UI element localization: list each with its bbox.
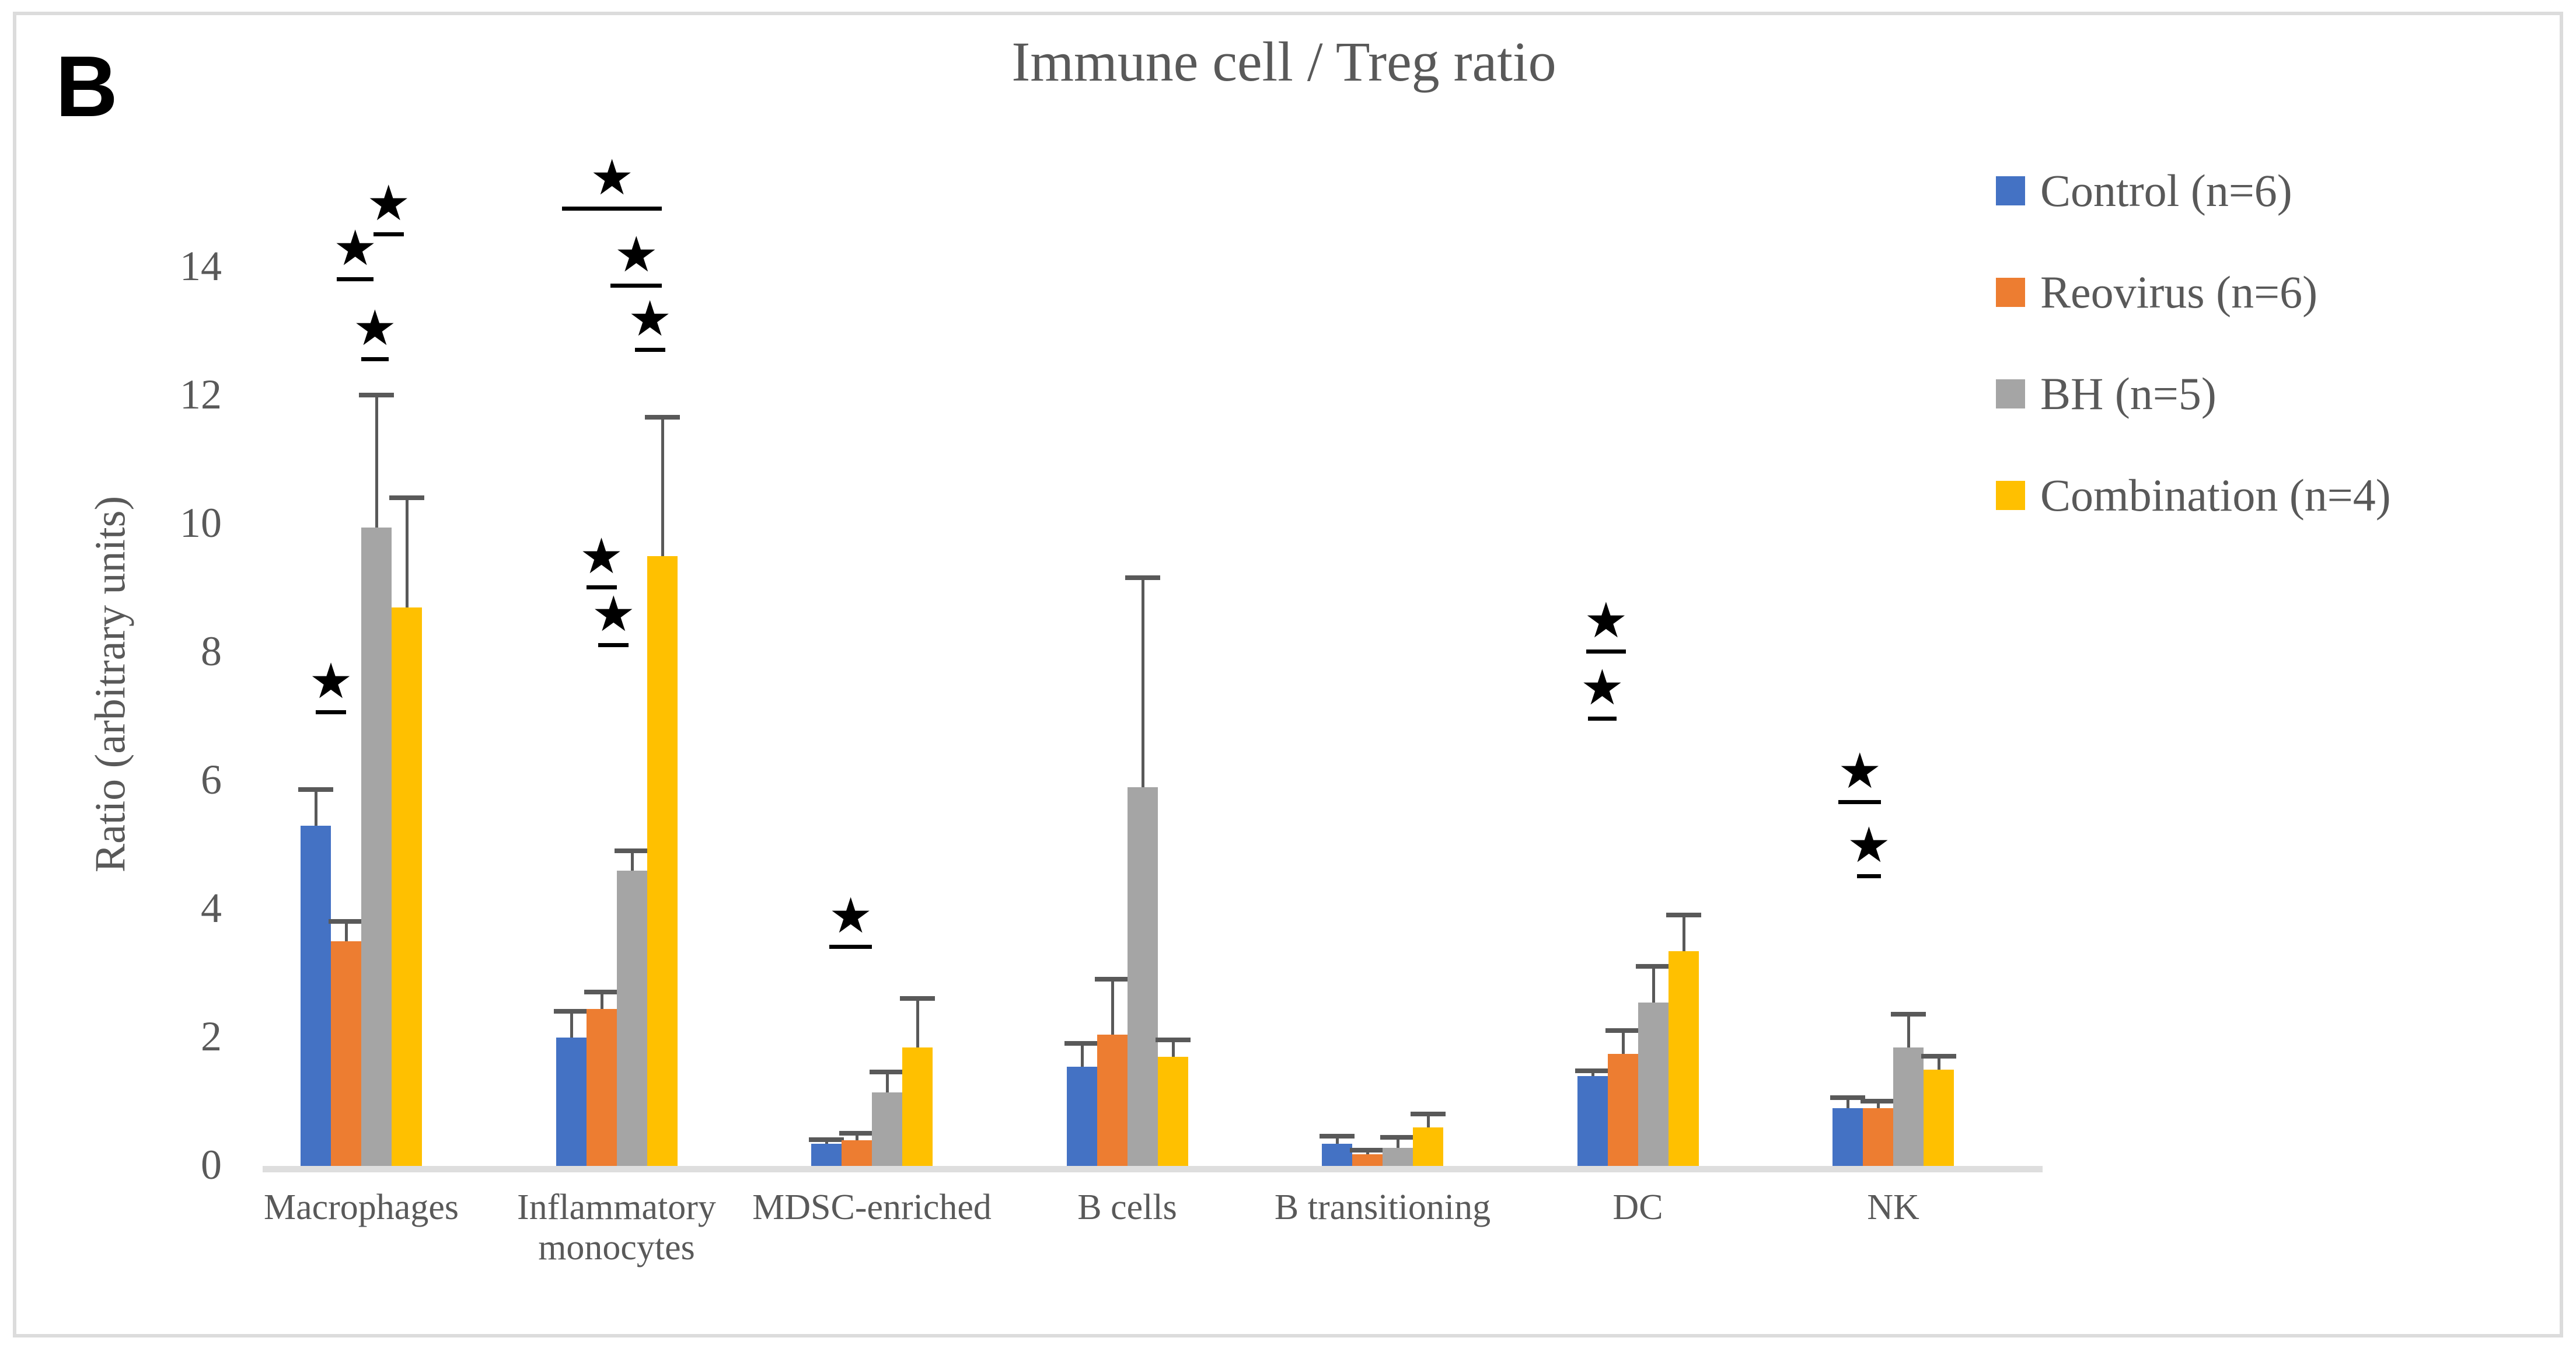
bar[interactable] (1097, 152, 1128, 1166)
error-bar (1652, 964, 1655, 1003)
chart-title: Immune cell / Treg ratio (875, 29, 1692, 94)
bar-fill (1067, 1067, 1097, 1167)
bar[interactable] (1383, 152, 1413, 1166)
bar-group (1322, 152, 1443, 1166)
bar-fill (301, 826, 331, 1166)
error-bar (1683, 913, 1685, 951)
error-bar (1427, 1112, 1430, 1128)
bar-fill (1352, 1154, 1383, 1166)
significance-bracket-line (1857, 874, 1882, 878)
bar-fill (556, 1038, 587, 1166)
significance-star-icon: ★ (822, 891, 880, 940)
significance-star-icon: ★ (583, 153, 641, 202)
bar-fill (1863, 1108, 1893, 1166)
error-bar (1907, 1012, 1910, 1047)
error-bar (406, 495, 409, 608)
bar-fill (811, 1144, 842, 1167)
legend-item[interactable]: BH (n=5) (1996, 372, 2391, 415)
bar-fill (392, 607, 422, 1166)
error-bar (1366, 1148, 1369, 1154)
significance-bracket-line (829, 945, 872, 949)
legend-color-swatch (1996, 379, 2025, 408)
significance-bracket-line (1838, 800, 1881, 804)
bar[interactable] (872, 152, 902, 1166)
plot-area: ★★★★★★★★★★★★★★ (268, 152, 2019, 1166)
bar[interactable] (1863, 152, 1893, 1166)
bar[interactable] (587, 152, 617, 1166)
significance-bracket-line (337, 277, 373, 281)
bar-fill (842, 1140, 872, 1166)
significance-star-icon: ★ (1577, 596, 1635, 645)
significance-bracket-line (635, 348, 665, 352)
y-tick-label: 8 (134, 630, 222, 672)
error-bar (1397, 1135, 1399, 1148)
significance-star-icon: ★ (1573, 663, 1631, 712)
significance-star-icon: ★ (1839, 820, 1898, 869)
significance-bracket-line (361, 357, 389, 361)
bar[interactable] (1128, 152, 1158, 1166)
bar[interactable] (1638, 152, 1669, 1166)
bar[interactable] (1352, 152, 1383, 1166)
figure-panel: B Immune cell / Treg ratio Ratio (arbitr… (0, 0, 2576, 1348)
legend-label: Reovirus (n=6) (2040, 270, 2317, 315)
legend-color-swatch (1996, 481, 2025, 510)
legend-label: Control (n=6) (2040, 168, 2292, 214)
bar[interactable] (1832, 152, 1863, 1166)
significance-bracket-line (1588, 717, 1617, 721)
bar[interactable] (902, 152, 933, 1166)
legend-item[interactable]: Control (n=6) (1996, 169, 2391, 212)
bar-fill (1322, 1144, 1352, 1167)
bar-fill (647, 556, 678, 1166)
error-bar (1172, 1038, 1175, 1057)
significance-star-icon: ★ (607, 230, 665, 279)
bar[interactable] (1669, 152, 1699, 1166)
legend-item[interactable]: Combination (n=4) (1996, 474, 2391, 517)
significance-star-icon: ★ (621, 294, 679, 343)
legend-color-swatch (1996, 176, 2025, 205)
bar[interactable] (556, 152, 587, 1166)
bar-fill (587, 1009, 617, 1167)
bar-fill (1893, 1047, 1924, 1167)
bar-fill (902, 1047, 933, 1167)
bar-fill (872, 1092, 902, 1167)
error-bar (825, 1137, 828, 1144)
significance-bracket-line (374, 232, 404, 236)
y-tick-label: 2 (134, 1015, 222, 1057)
significance-bracket-line (562, 207, 662, 211)
y-tick-label: 0 (134, 1144, 222, 1186)
legend: Control (n=6)Reovirus (n=6)BH (n=5)Combi… (1996, 169, 2391, 575)
significance-star-icon: ★ (573, 532, 631, 581)
legend-label: Combination (n=4) (2040, 473, 2391, 518)
error-bar (601, 990, 603, 1009)
y-tick-label: 12 (134, 373, 222, 415)
bar-fill (1608, 1054, 1638, 1167)
bar[interactable] (811, 152, 842, 1166)
legend-item[interactable]: Reovirus (n=6) (1996, 271, 2391, 314)
error-bar (661, 415, 664, 556)
y-tick-label: 6 (134, 759, 222, 801)
y-tick-label: 14 (134, 245, 222, 287)
significance-bracket-line (316, 710, 346, 714)
bar-fill (331, 941, 361, 1166)
bar-fill (1097, 1035, 1128, 1167)
error-bar (631, 848, 634, 871)
bar[interactable] (1158, 152, 1188, 1166)
error-bar (1142, 575, 1144, 787)
error-bar (1877, 1099, 1880, 1109)
error-bar (856, 1131, 858, 1141)
error-bar (1081, 1041, 1084, 1067)
panel-letter: B (55, 44, 118, 130)
significance-bracket-line (610, 284, 662, 288)
error-bar (1336, 1134, 1339, 1144)
bar[interactable] (1893, 152, 1924, 1166)
y-tick-label: 10 (134, 502, 222, 544)
bar-fill (1158, 1057, 1188, 1166)
y-axis-title: Ratio (arbitrary units) (86, 422, 136, 947)
significance-bracket-line (1586, 649, 1626, 654)
error-bar (1622, 1028, 1625, 1054)
bar[interactable] (842, 152, 872, 1166)
error-bar (375, 393, 378, 528)
y-tick-label: 4 (134, 887, 222, 929)
bar[interactable] (1924, 152, 1954, 1166)
bar-fill (617, 871, 647, 1166)
bar-fill (1832, 1108, 1863, 1166)
error-bar (1591, 1068, 1594, 1076)
significance-bracket-line (598, 643, 629, 647)
error-bar (315, 787, 317, 826)
bar-fill (1413, 1127, 1443, 1166)
significance-star-icon: ★ (1831, 746, 1889, 795)
x-axis-baseline (263, 1166, 2043, 1172)
bar[interactable] (1067, 152, 1097, 1166)
x-tick-label: NK (1718, 1188, 2068, 1228)
error-bar (345, 919, 348, 942)
legend-label: BH (n=5) (2040, 371, 2217, 417)
bar-fill (1383, 1148, 1413, 1166)
bar-fill (1577, 1076, 1608, 1166)
bar-fill (361, 528, 392, 1167)
error-bar (570, 1009, 573, 1038)
bar-group (1832, 152, 1954, 1166)
significance-star-icon: ★ (584, 589, 643, 638)
bar[interactable] (1322, 152, 1352, 1166)
error-bar (1938, 1054, 1940, 1070)
error-bar (1111, 977, 1114, 1035)
significance-star-icon: ★ (345, 303, 404, 352)
legend-color-swatch (1996, 278, 2025, 307)
bar-group (1067, 152, 1188, 1166)
bar-fill (1669, 951, 1699, 1167)
bar-fill (1638, 1003, 1669, 1167)
bar-fill (1924, 1070, 1954, 1166)
bar-group (811, 152, 933, 1166)
error-bar (886, 1070, 889, 1092)
bar-fill (1128, 787, 1158, 1166)
significance-star-icon: ★ (302, 656, 360, 706)
error-bar (916, 996, 919, 1047)
significance-star-icon: ★ (359, 179, 418, 228)
bar[interactable] (1413, 152, 1443, 1166)
error-bar (1847, 1095, 1849, 1108)
